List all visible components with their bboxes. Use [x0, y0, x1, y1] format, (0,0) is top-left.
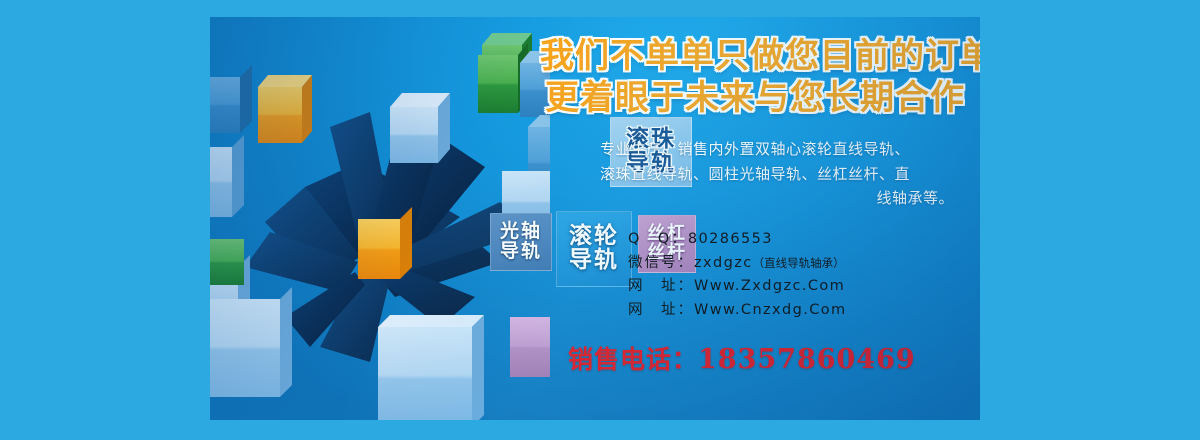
sales-phone-line[interactable]: 销售电话：18357860469: [540, 340, 970, 376]
contact-note-wechat: （直线导轨轴承）: [753, 256, 845, 270]
cube-lower-center-blue: [378, 315, 484, 420]
contact-value-website-1: Www.Zxdgzc.Com: [694, 278, 845, 294]
contact-row-qq[interactable]: Q Q：80286553: [628, 228, 970, 251]
headline-line-2: 更着眼于未来与您长期合作: [540, 77, 970, 119]
contact-row-wechat[interactable]: 微信号：zxdgzc（直线导轨轴承）: [628, 252, 970, 275]
contact-value-website-2: Www.Cnzxdg.Com: [694, 302, 847, 318]
description-line-2: 滚珠直线导轨、圆柱光轴导轨、丝杠丝杆、直: [540, 162, 970, 186]
description-line-3: 线轴承等。: [540, 186, 970, 210]
cube-blue-left-1: [210, 65, 252, 133]
promo-banner[interactable]: 滚珠 导轨 光轴 导轨 滚轮 导轨 丝杠 丝杆 我们不单单只做您目前的订单 更着…: [210, 17, 980, 420]
contact-label-website-2: 网 址：: [628, 302, 694, 318]
cube-lower-blue-big: [210, 287, 292, 397]
banner-copy-column: 我们不单单只做您目前的订单 更着眼于未来与您长期合作 专业生产、销售内外置双轴心…: [540, 35, 970, 405]
sales-phone-label: 销售电话：: [568, 345, 698, 374]
contact-label-website-1: 网 址：: [628, 278, 694, 294]
contact-row-website-1[interactable]: 网 址：Www.Zxdgzc.Com: [628, 275, 970, 298]
banner-headline: 我们不单单只做您目前的订单 更着眼于未来与您长期合作: [540, 35, 970, 119]
cube-blue-left-2: [210, 135, 244, 217]
product-label-guangzhou-line2: 导轨: [500, 242, 542, 262]
contact-value-wechat: zxdgzc: [694, 255, 753, 271]
contact-value-qq: 80286553: [688, 231, 773, 247]
contact-row-website-2[interactable]: 网 址：Www.Cnzxdg.Com: [628, 299, 970, 322]
contact-info-block: Q Q：80286553 微信号：zxdgzc（直线导轨轴承） 网 址：Www.…: [540, 228, 970, 322]
contact-label-qq: Q Q：: [628, 231, 688, 247]
cube-orange-upper-left: [258, 75, 312, 143]
sales-phone-number: 18357860469: [698, 344, 916, 375]
contact-label-wechat: 微信号：: [628, 255, 694, 271]
page-root: 滚珠 导轨 光轴 导轨 滚轮 导轨 丝杠 丝杆 我们不单单只做您目前的订单 更着…: [0, 0, 1200, 440]
cube-top-blue: [390, 93, 450, 163]
headline-line-1: 我们不单单只做您目前的订单: [540, 35, 970, 77]
banner-description: 专业生产、销售内外置双轴心滚轮直线导轨、 滚珠直线导轨、圆柱光轴导轨、丝杠丝杆、…: [540, 137, 970, 210]
cube-lower-green-2: [210, 239, 244, 285]
description-line-1: 专业生产、销售内外置双轴心滚轮直线导轨、: [540, 137, 970, 161]
